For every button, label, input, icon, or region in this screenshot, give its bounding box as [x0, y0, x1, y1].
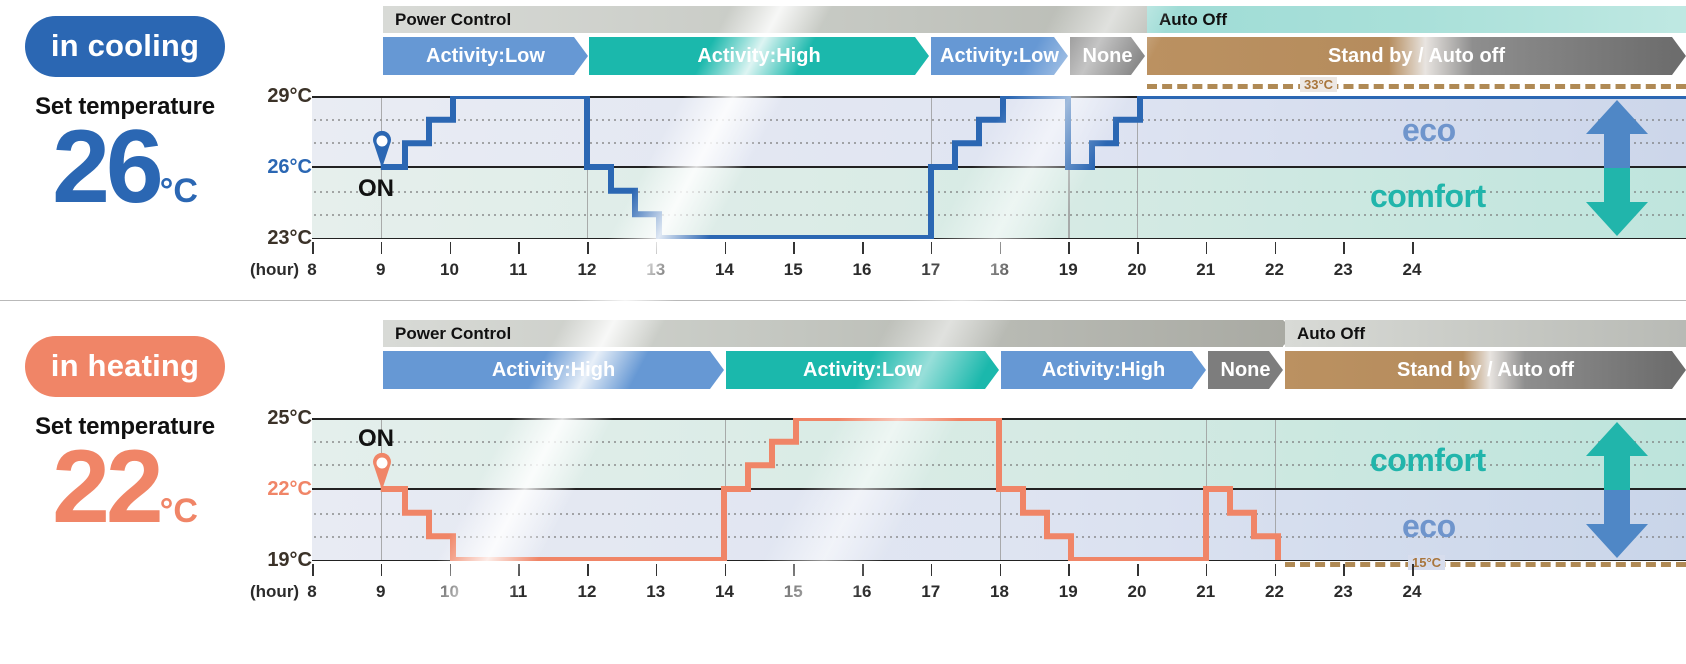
heating-on-label: ON	[358, 425, 394, 453]
cooling-segment-activity-low-2: Activity:Low	[931, 37, 1068, 75]
cooling-mode-pill: in cooling	[25, 16, 225, 77]
cooling-temperature-line	[312, 96, 1686, 239]
heating-segment-label: Stand by / Auto off	[1391, 359, 1580, 382]
heating-panel: in heating Set temperature 22°C Power Co…	[0, 312, 1686, 664]
heating-ytick-19: 19°C	[252, 549, 312, 572]
cooling-auto-off-label: Auto Off	[1159, 10, 1227, 30]
cooling-ytick-29: 29°C	[252, 85, 312, 108]
cooling-on-label: ON	[358, 175, 394, 203]
cooling-ytick-23: 23°C	[252, 227, 312, 250]
cooling-segment-none: None	[1070, 37, 1145, 75]
heating-segment-activity-high-2: Activity:High	[1001, 351, 1206, 389]
cooling-segment-label: Activity:Low	[934, 45, 1065, 68]
cooling-legend-comfort: comfort	[1370, 178, 1486, 215]
cooling-xaxis-ticks	[312, 242, 1686, 256]
cooling-plot-area: eco comfort	[312, 96, 1686, 239]
cooling-set-unit: °C	[160, 172, 198, 210]
cooling-segment-activity-low-1: Activity:Low	[383, 37, 588, 75]
heating-on-pin-icon	[370, 450, 394, 490]
infographic-root: in cooling Set temperature 26°C Power Co…	[0, 0, 1686, 664]
heating-segment-label: Activity:Low	[797, 359, 928, 382]
heating-segment-label: Activity:High	[1036, 359, 1171, 382]
cooling-set-temperature-value: 26°C	[0, 123, 250, 211]
heating-xaxis-ticks	[312, 564, 1686, 578]
heating-eco-comfort-arrow-icon	[1582, 420, 1652, 560]
panel-divider	[0, 300, 1686, 301]
heating-segment-activity-high-1: Activity:High	[383, 351, 724, 389]
cooling-reference-label-33: 33°C	[1300, 77, 1337, 92]
heating-temperature-line	[312, 418, 1686, 561]
cooling-auto-off-band: Auto Off	[1147, 6, 1686, 33]
heating-legend-comfort: comfort	[1370, 442, 1486, 479]
cooling-segment-label: Stand by / Auto off	[1322, 45, 1511, 68]
heating-ytick-25: 25°C	[252, 407, 312, 430]
heating-mode-pill: in heating	[25, 336, 225, 397]
heating-set-unit: °C	[160, 492, 198, 530]
heating-segment-standby: Stand by / Auto off	[1285, 351, 1686, 389]
heating-power-control-label: Power Control	[395, 324, 511, 344]
heating-auto-off-band: Auto Off	[1285, 320, 1686, 347]
heating-set-temperature-value: 22°C	[0, 443, 250, 531]
heating-legend-eco: eco	[1402, 508, 1456, 545]
heating-segment-label: None	[1215, 359, 1277, 382]
cooling-ytick-26: 26°C	[252, 156, 312, 179]
cooling-segment-label: Activity:Low	[420, 45, 551, 68]
cooling-reference-line-33	[1147, 84, 1686, 89]
cooling-segment-activity-high: Activity:High	[589, 37, 929, 75]
heating-segment-none: None	[1208, 351, 1283, 389]
heating-power-control-band: Power Control	[383, 320, 1283, 347]
heating-auto-off-label: Auto Off	[1297, 324, 1365, 344]
heating-segment-label: Activity:High	[486, 359, 621, 382]
cooling-left-column: in cooling Set temperature 26°C	[0, 16, 250, 211]
cooling-eco-comfort-arrow-icon	[1582, 98, 1652, 238]
cooling-power-control-label: Power Control	[395, 10, 511, 30]
cooling-on-pin-icon	[370, 128, 394, 168]
heating-ytick-22: 22°C	[252, 478, 312, 501]
cooling-legend-eco: eco	[1402, 112, 1456, 149]
heating-plot-area: comfort eco	[312, 418, 1686, 561]
cooling-set-number: 26	[52, 109, 160, 225]
cooling-panel: in cooling Set temperature 26°C Power Co…	[0, 0, 1686, 300]
heating-segment-activity-low: Activity:Low	[726, 351, 999, 389]
cooling-segment-label: Activity:High	[691, 45, 826, 68]
heating-left-column: in heating Set temperature 22°C	[0, 336, 250, 531]
heating-set-number: 22	[52, 429, 160, 545]
cooling-segment-standby: Stand by / Auto off	[1147, 37, 1686, 75]
cooling-segment-label: None	[1077, 45, 1139, 68]
